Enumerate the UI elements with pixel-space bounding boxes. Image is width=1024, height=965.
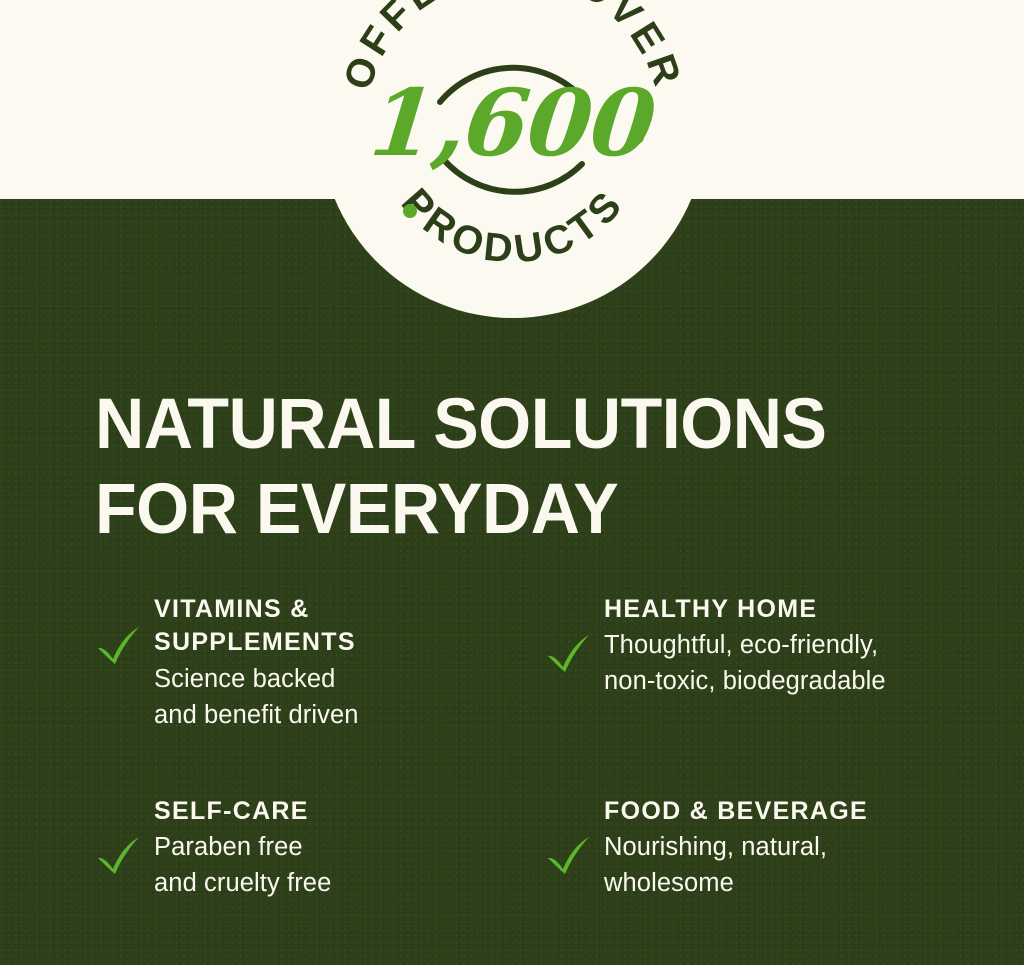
feature-text: FOOD & BEVERAGE Nourishing, natural, who…	[604, 795, 868, 902]
feature-title: HEALTHY HOME	[604, 593, 886, 626]
feature-description: Nourishing, natural, wholesome	[604, 829, 868, 901]
badge-number-wrap: 1,600	[320, 0, 706, 318]
feature-item-healthy-home: HEALTHY HOME Thoughtful, eco-friendly, n…	[545, 593, 985, 795]
check-icon	[545, 835, 593, 875]
feature-title: SELF-CARE	[154, 795, 331, 828]
page-title: NATURAL SOLUTIONS FOR EVERYDAY	[95, 382, 940, 552]
headline-line-2: FOR EVERYDAY	[95, 467, 940, 552]
feature-description: Paraben free and cruelty free	[154, 829, 331, 901]
feature-title: FOOD & BEVERAGE	[604, 795, 868, 828]
feature-title: VITAMINS & SUPPLEMENTS	[154, 593, 359, 660]
feature-item-food-beverage: FOOD & BEVERAGE Nourishing, natural, who…	[545, 795, 985, 902]
product-count-badge: OFFERING OVER PRODUCTS 1,600	[320, 0, 706, 318]
feature-text: SELF-CARE Paraben free and cruelty free	[154, 795, 331, 902]
promo-graphic: OFFERING OVER PRODUCTS 1,600 NATURAL SOL…	[0, 0, 1024, 965]
check-icon	[95, 835, 143, 875]
feature-description: Science backed and benefit driven	[154, 661, 359, 733]
check-icon-wrap	[95, 593, 154, 665]
feature-text: VITAMINS & SUPPLEMENTS Science backed an…	[154, 593, 359, 733]
check-icon-wrap	[545, 593, 604, 673]
badge-product-count: 1,600	[366, 69, 660, 177]
feature-list: VITAMINS & SUPPLEMENTS Science backed an…	[95, 593, 985, 902]
check-icon-wrap	[95, 795, 154, 875]
check-icon-wrap	[545, 795, 604, 875]
check-icon	[95, 625, 143, 665]
feature-item-self-care: SELF-CARE Paraben free and cruelty free	[95, 795, 545, 902]
headline-line-1: NATURAL SOLUTIONS	[95, 382, 940, 467]
feature-text: HEALTHY HOME Thoughtful, eco-friendly, n…	[604, 593, 886, 700]
feature-item-vitamins-supplements: VITAMINS & SUPPLEMENTS Science backed an…	[95, 593, 545, 795]
check-icon	[545, 633, 593, 673]
feature-description: Thoughtful, eco-friendly, non-toxic, bio…	[604, 627, 886, 699]
